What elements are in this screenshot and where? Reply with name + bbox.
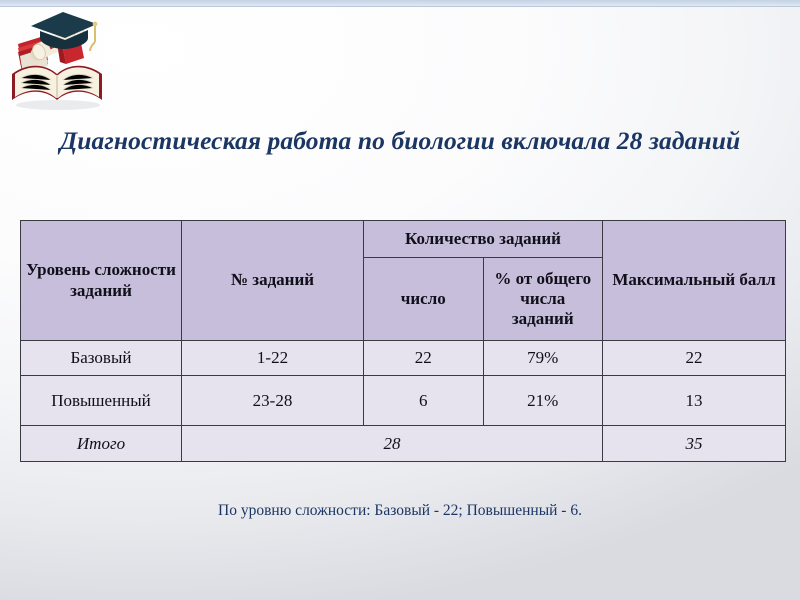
table-body: Базовый 1-22 22 79% 22 Повышенный 23-28 … bbox=[21, 341, 786, 462]
slide-canvas: Диагностическая работа по биологии включ… bbox=[0, 0, 800, 600]
header-quantity-count: число bbox=[364, 258, 484, 341]
table-row: Повышенный 23-28 6 21% 13 bbox=[21, 376, 786, 426]
cell-percent-basic: 79% bbox=[483, 341, 603, 376]
header-task-numbers: № заданий bbox=[182, 221, 364, 341]
table-row-total: Итого 28 35 bbox=[21, 426, 786, 462]
top-decorative-line bbox=[0, 6, 800, 7]
header-quantity-percent: % от общего числа заданий bbox=[483, 258, 603, 341]
cell-maxscore-advanced: 13 bbox=[603, 376, 786, 426]
graduation-cap-books-icon bbox=[4, 4, 116, 116]
open-book-shape bbox=[12, 66, 102, 100]
cell-total-maxscore: 35 bbox=[603, 426, 786, 462]
cell-level-basic: Базовый bbox=[21, 341, 182, 376]
cell-count-basic: 22 bbox=[364, 341, 484, 376]
page-title: Диагностическая работа по биологии включ… bbox=[0, 126, 800, 156]
cell-maxscore-basic: 22 bbox=[603, 341, 786, 376]
cell-level-advanced: Повышенный bbox=[21, 376, 182, 426]
cell-total-label: Итого bbox=[21, 426, 182, 462]
header-quantity-group: Количество заданий bbox=[364, 221, 603, 258]
footnote-text: По уровню сложности: Базовый - 22; Повыш… bbox=[0, 502, 800, 520]
reflection-shadow bbox=[16, 100, 100, 110]
cell-total-count: 28 bbox=[182, 426, 603, 462]
task-breakdown-table: Уровень сложности заданий № заданий Коли… bbox=[20, 220, 786, 462]
table-row: Базовый 1-22 22 79% 22 bbox=[21, 341, 786, 376]
task-breakdown-table-container: Уровень сложности заданий № заданий Коли… bbox=[20, 220, 786, 462]
cell-tasknums-basic: 1-22 bbox=[182, 341, 364, 376]
cell-count-advanced: 6 bbox=[364, 376, 484, 426]
header-difficulty-level: Уровень сложности заданий bbox=[21, 221, 182, 341]
table-header-row-1: Уровень сложности заданий № заданий Коли… bbox=[21, 221, 786, 258]
cell-percent-advanced: 21% bbox=[483, 376, 603, 426]
header-max-score: Максимальный балл bbox=[603, 221, 786, 341]
cell-tasknums-advanced: 23-28 bbox=[182, 376, 364, 426]
table-header: Уровень сложности заданий № заданий Коли… bbox=[21, 221, 786, 341]
